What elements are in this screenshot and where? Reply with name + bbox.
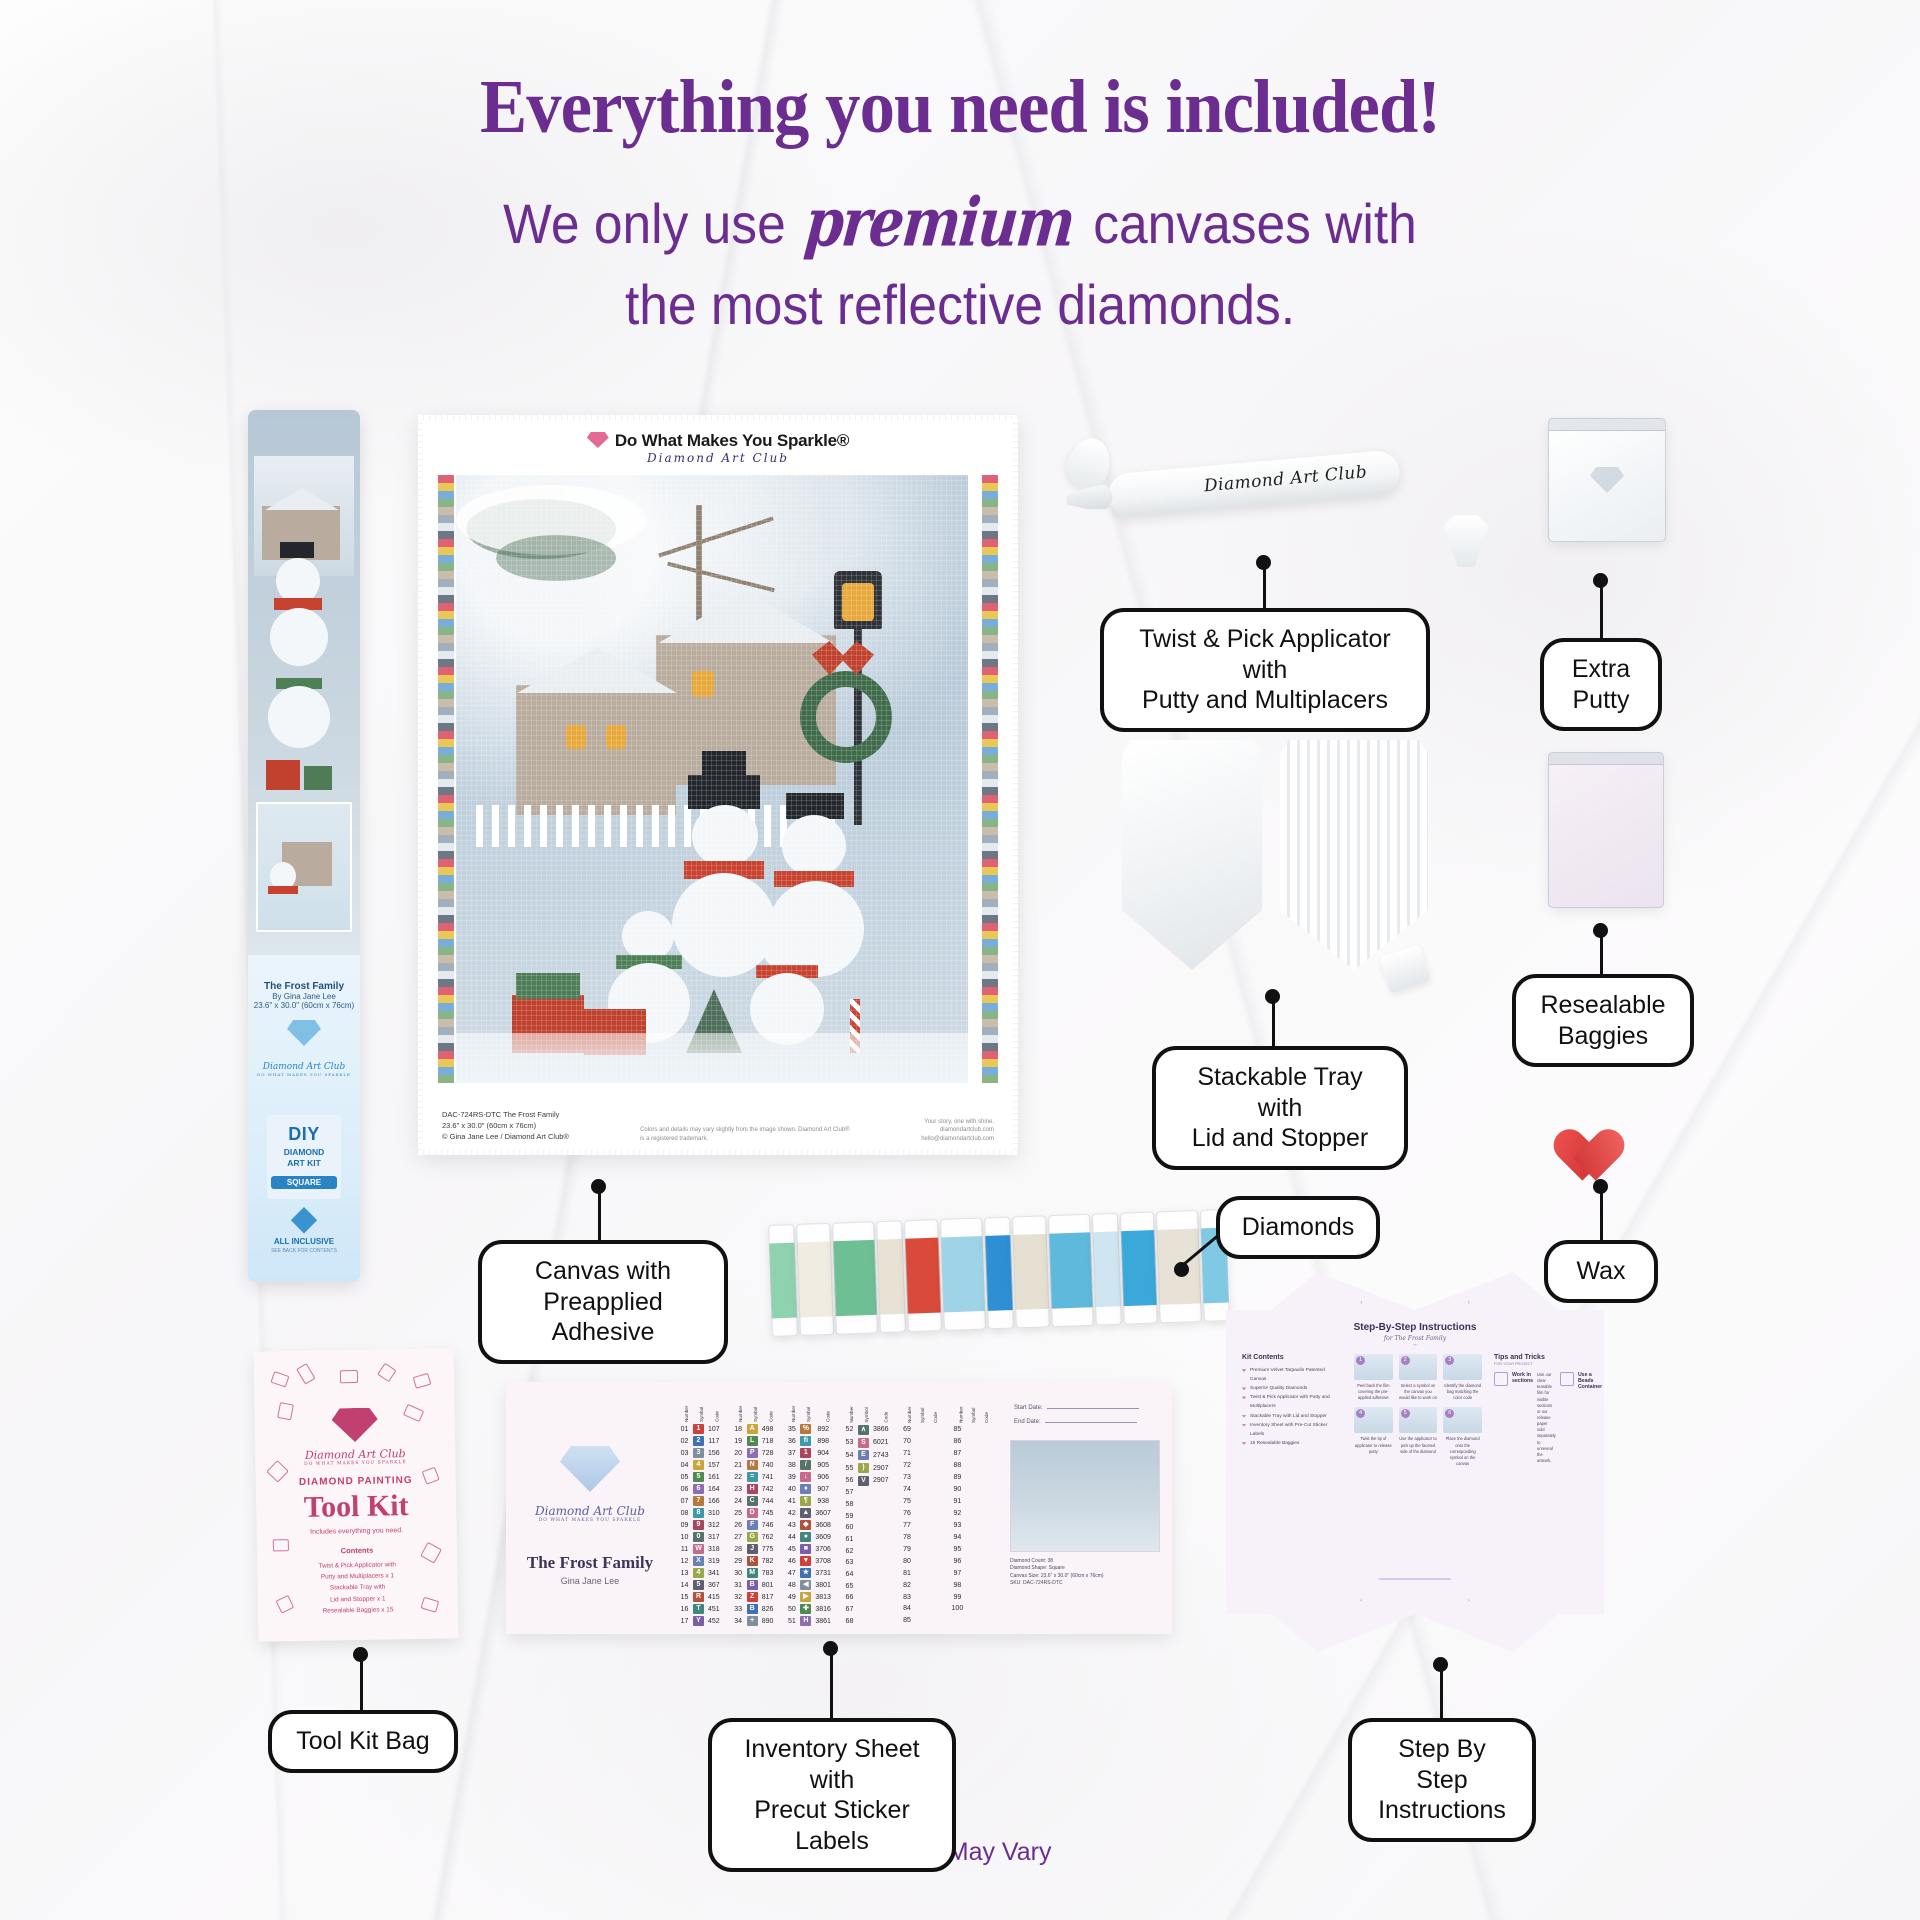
inventory-number: 43: [785, 1519, 798, 1531]
inventory-symbol: F: [745, 1519, 760, 1531]
inventory-number: 86: [950, 1436, 966, 1448]
inventory-symbol: [965, 1472, 978, 1484]
inventory-symbol: [914, 1591, 927, 1603]
inventory-symbol: ◀: [798, 1579, 813, 1591]
kit-contents-header: Kit Contents: [1242, 1354, 1342, 1361]
leader-wax: [1600, 1186, 1603, 1242]
inventory-code: [978, 1543, 991, 1555]
inventory-code: [927, 1591, 940, 1603]
inventory-column-header: Code: [706, 1412, 722, 1423]
inventory-symbol: =: [745, 1471, 760, 1483]
inventory-code: 898: [813, 1435, 833, 1447]
leader-instructions: [1440, 1664, 1443, 1720]
inventory-symbol: 6: [691, 1483, 706, 1495]
inventory-symbol: [914, 1496, 927, 1508]
inventory-symbol: G: [745, 1531, 760, 1543]
inventory-symbol: [856, 1580, 871, 1592]
start-date-field[interactable]: [1047, 1408, 1139, 1409]
inventory-code: [871, 1545, 891, 1557]
inventory-code: 3813: [813, 1591, 833, 1603]
inventory-symbol-swatch: X: [693, 1556, 704, 1566]
inventory-column-header: Symbol: [965, 1412, 978, 1424]
inventory-code: 157: [706, 1459, 722, 1471]
pen-brand-script: Diamond Art Club: [1203, 462, 1368, 496]
diamond-packet: [1048, 1214, 1094, 1327]
inventory-symbol: ▲: [798, 1507, 813, 1519]
inventory-symbol: [856, 1545, 871, 1557]
inventory-sheet: Diamond Art Club DO WHAT MAKES YOU SPARK…: [506, 1382, 1172, 1634]
inventory-symbol-swatch: 1: [800, 1448, 811, 1458]
inventory-symbol: N: [745, 1459, 760, 1471]
table-row: 099312: [678, 1519, 722, 1531]
inventory-code: [927, 1484, 940, 1496]
inventory-symbol-swatch: H: [747, 1484, 758, 1494]
inventory-code: 3801: [813, 1579, 833, 1591]
inventory-symbol: /: [798, 1459, 813, 1471]
inventory-code: [871, 1510, 891, 1522]
inventory-code: [871, 1557, 891, 1569]
instruction-step: 1Peel back the film covering the pre-app…: [1354, 1354, 1393, 1401]
diamond-packet: [876, 1220, 906, 1333]
table-row: 29K782: [732, 1555, 776, 1567]
inventory-symbol: K: [745, 1555, 760, 1567]
diamond-packet: [1120, 1212, 1158, 1325]
inventory-code: 415: [706, 1591, 722, 1603]
inventory-symbol: W: [691, 1543, 706, 1555]
inventory-code: 3731: [813, 1567, 833, 1579]
inventory-symbol-swatch: W: [693, 1544, 704, 1554]
kit-contents-column: Kit Contents Premium Velvet Tarpaulin Pa…: [1242, 1354, 1342, 1448]
subtitle-line-1: We only use premium canvases with: [77, 188, 1843, 258]
inventory-symbol-swatch: ■: [800, 1544, 811, 1554]
inventory-number: 25: [732, 1507, 745, 1519]
inventory-number: 47: [785, 1567, 798, 1579]
inventory-title: The Frost Family: [506, 1553, 674, 1573]
inventory-symbol: Z: [745, 1591, 760, 1603]
inventory-code: 3861: [813, 1615, 833, 1627]
inventory-code: 312: [706, 1519, 722, 1531]
inventory-symbol: A: [745, 1423, 760, 1435]
tube-title: The Frost Family: [248, 981, 360, 992]
inventory-symbol: V: [856, 1474, 871, 1487]
step-number: 6: [1445, 1409, 1454, 1418]
inventory-symbol: [914, 1531, 927, 1543]
inventory-symbol: ★: [798, 1567, 813, 1579]
kit-contents-item: Stackable Tray with Lid and Stopper: [1242, 1412, 1342, 1421]
tip-icon: [1630, 1372, 1644, 1386]
inventory-number: 38: [785, 1459, 798, 1471]
inventory-number: 74: [901, 1484, 914, 1496]
inventory-symbol: [914, 1615, 927, 1627]
inventory-code: 892: [813, 1423, 833, 1435]
canvas-poster: Do What Makes You Sparkle® Diamond Art C…: [418, 415, 1018, 1155]
inventory-code: 3866: [871, 1424, 891, 1437]
inventory-code: 3608: [813, 1519, 833, 1531]
table-row: 70: [901, 1436, 940, 1448]
end-date-field[interactable]: [1045, 1422, 1137, 1423]
table-row: 68: [843, 1615, 891, 1627]
inventory-symbol: S: [856, 1436, 871, 1449]
table-row: 46▼3708: [785, 1555, 833, 1567]
inventory-symbol: [965, 1531, 978, 1543]
inventory-symbol: [856, 1569, 871, 1581]
inventory-code: [871, 1592, 891, 1604]
inventory-symbol-swatch: M: [747, 1568, 758, 1578]
inventory-number: 58: [843, 1499, 856, 1511]
table-row: 87: [950, 1448, 992, 1460]
inventory-code: [871, 1522, 891, 1534]
step-illustration: 6: [1443, 1407, 1482, 1433]
table-row: 79: [901, 1543, 940, 1555]
step-illustration: 2: [1399, 1354, 1438, 1380]
inventory-number: 10: [678, 1531, 691, 1543]
inventory-symbol: [965, 1436, 978, 1448]
inventory-number: 96: [950, 1555, 966, 1567]
inventory-number: 55: [843, 1462, 856, 1475]
table-row: 64: [843, 1569, 891, 1581]
inventory-number: 20: [732, 1447, 745, 1459]
inventory-code: 826: [760, 1603, 776, 1615]
inventory-symbol: [856, 1510, 871, 1522]
inventory-number: 78: [901, 1531, 914, 1543]
table-row: 62: [843, 1545, 891, 1557]
tip-item: Use a Beads ContainerPerfect for keeping…: [1560, 1372, 1626, 1471]
inventory-number: 07: [678, 1495, 691, 1507]
toolbag-contents-header: Contents: [257, 1544, 457, 1556]
instruction-step: 3Identify the diamond bag matching the c…: [1443, 1354, 1482, 1401]
poster-sku-line-2: 23.6" x 30.0" (60cm x 76cm): [442, 1121, 569, 1132]
step-text: Twist the tip of applicator to release p…: [1354, 1436, 1393, 1454]
leader-dot-toolkit: [353, 1647, 368, 1662]
inventory-code: [978, 1424, 991, 1436]
inventory-code: [871, 1534, 891, 1546]
callout-canvas: Canvas with Preapplied Adhesive: [478, 1240, 728, 1364]
inventory-code: 156: [706, 1447, 722, 1459]
inventory-symbol: B: [745, 1579, 760, 1591]
inventory-symbol-swatch: A: [747, 1424, 758, 1434]
inventory-code: 801: [760, 1579, 776, 1591]
table-row: 74: [901, 1484, 940, 1496]
inventory-symbol-swatch: K: [747, 1556, 758, 1566]
callout-stackable-tray: Stackable Tray with Lid and Stopper: [1152, 1046, 1408, 1170]
inventory-code: [927, 1436, 940, 1448]
inventory-symbol-swatch: %: [800, 1424, 811, 1434]
inventory-number: 79: [901, 1543, 914, 1555]
table-row: 11W318: [678, 1543, 722, 1555]
table-row: 12X319: [678, 1555, 722, 1567]
inventory-symbol: ∧: [856, 1424, 871, 1437]
instruction-step: 6Place the diamond onto the correspondin…: [1443, 1407, 1482, 1467]
inventory-code: [927, 1531, 940, 1543]
inventory-symbol: 2: [691, 1435, 706, 1447]
inventory-symbol-swatch: C: [747, 1496, 758, 1506]
table-row: 55)2907: [843, 1462, 891, 1475]
inventory-number: 17: [678, 1615, 691, 1627]
diamond-icon: [560, 1446, 620, 1492]
inventory-code: [927, 1543, 940, 1555]
table-row: 134341: [678, 1567, 722, 1579]
tip-title: Work in sections: [1512, 1372, 1533, 1464]
inventory-number: 21: [732, 1459, 745, 1471]
diamond-icon: [287, 1020, 321, 1046]
inventory-symbol: [965, 1424, 978, 1436]
inventory-symbol: [914, 1579, 927, 1591]
inventory-symbol: [856, 1604, 871, 1616]
inventory-number: 85: [901, 1615, 914, 1627]
table-row: 90: [950, 1484, 992, 1496]
inventory-symbol: [914, 1484, 927, 1496]
tool-kit-bag: Diamond Art Club DO WHAT MAKES YOU SPARK…: [253, 1348, 458, 1641]
inventory-code: [871, 1615, 891, 1627]
inventory-symbol: ↓: [798, 1471, 813, 1483]
inventory-code: 775: [760, 1543, 776, 1555]
table-row: 34+890: [732, 1615, 776, 1627]
inventory-code: 452: [706, 1615, 722, 1627]
inventory-number: 35: [785, 1423, 798, 1435]
inventory-symbol-swatch: +: [747, 1616, 758, 1626]
toolbag-includes: Includes everything you need.: [257, 1526, 457, 1536]
table-row: 100317: [678, 1531, 722, 1543]
kit-contents-item: 15 Resealable Baggies: [1242, 1439, 1342, 1448]
inventory-code: [978, 1460, 991, 1472]
leader-dot-extra-putty: [1593, 573, 1608, 588]
inventory-number: 39: [785, 1471, 798, 1483]
inventory-symbol: ✚: [798, 1603, 813, 1615]
inventory-number: 28: [732, 1543, 745, 1555]
inventory-number: 88: [950, 1460, 966, 1472]
inventory-symbol: ▶: [798, 1591, 813, 1603]
inventory-number: 13: [678, 1567, 691, 1579]
inventory-code: 317: [706, 1531, 722, 1543]
inventory-code: 904: [813, 1447, 833, 1459]
inventory-code: 2907: [871, 1474, 891, 1487]
table-row: 15R415: [678, 1591, 722, 1603]
table-row: 033156: [678, 1447, 722, 1459]
table-row: 36fi898: [785, 1435, 833, 1447]
inventory-code: 782: [760, 1555, 776, 1567]
inventory-symbol-swatch: fi: [800, 1436, 811, 1446]
inventory-symbol-swatch: E: [858, 1450, 869, 1460]
inventory-symbol-swatch: ▶: [800, 1592, 811, 1602]
inventory-number: 60: [843, 1522, 856, 1534]
tube-drill-type: SQUARE: [271, 1176, 337, 1189]
inventory-number: 08: [678, 1507, 691, 1519]
table-row: 98: [950, 1579, 992, 1591]
step-by-step-instruction-sheet: Step-By-Step Instructions for The Frost …: [1226, 1272, 1604, 1652]
inventory-code: [927, 1508, 940, 1520]
inventory-symbol: M: [745, 1567, 760, 1579]
diamond-packet: [940, 1218, 986, 1331]
inventory-code: 3609: [813, 1531, 833, 1543]
inventory-code: 746: [760, 1519, 776, 1531]
inventory-code: [871, 1569, 891, 1581]
inventory-code: [927, 1567, 940, 1579]
table-row: 022117: [678, 1435, 722, 1447]
inventory-symbol-swatch: 4: [693, 1568, 704, 1578]
inventory-column-header: Number: [678, 1412, 691, 1423]
inventory-code: 319: [706, 1555, 722, 1567]
inventory-code: 6021: [871, 1436, 891, 1449]
inventory-code: [927, 1555, 940, 1567]
inventory-symbol: 4: [691, 1459, 706, 1471]
callout-resealable-baggies: Resealable Baggies: [1512, 974, 1694, 1067]
table-row: 49▶3813: [785, 1591, 833, 1603]
inventory-code: 938: [813, 1495, 833, 1507]
inventory-symbol-swatch: Z: [747, 1592, 758, 1602]
tube-label: The Frost Family By Gina Jane Lee 23.6" …: [248, 955, 360, 1282]
diamond-packet: [984, 1217, 1014, 1330]
inventory-code: [927, 1448, 940, 1460]
inventory-number: 45: [785, 1543, 798, 1555]
inventory-number: 44: [785, 1531, 798, 1543]
inventory-number: 16: [678, 1603, 691, 1615]
table-row: 80: [901, 1555, 940, 1567]
inventory-symbol: [856, 1557, 871, 1569]
inventory-number: 69: [901, 1424, 914, 1436]
inventory-number: 95: [950, 1543, 966, 1555]
inventory-number: 42: [785, 1507, 798, 1519]
color-legend-left: [438, 475, 454, 1083]
inventory-code: 3706: [813, 1543, 833, 1555]
table-row: 100: [950, 1603, 992, 1615]
table-row: 63: [843, 1557, 891, 1569]
table-row: 86: [950, 1436, 992, 1448]
stackable-tray-base: [1280, 740, 1428, 970]
inventory-column-header: Number: [901, 1412, 914, 1424]
inventory-code: [978, 1436, 991, 1448]
tip-icon: [1696, 1372, 1710, 1386]
inventory-code: [978, 1508, 991, 1520]
inventory-symbol: [965, 1460, 978, 1472]
table-row: 57: [843, 1487, 891, 1499]
inventory-symbol-swatch: =: [747, 1472, 758, 1482]
table-row: 69: [901, 1424, 940, 1436]
diamond-square-icon: [289, 1205, 319, 1235]
inventory-number: 29: [732, 1555, 745, 1567]
inventory-number: 59: [843, 1510, 856, 1522]
inventory-code: 744: [760, 1495, 776, 1507]
inventory-code: 741: [760, 1471, 776, 1483]
inventory-column-header: Number: [843, 1412, 856, 1424]
inventory-artwork-thumbnail: [1010, 1440, 1160, 1552]
diamond-icon: [331, 1408, 378, 1443]
inventory-number: 31: [732, 1579, 745, 1591]
inventory-number: 22: [732, 1471, 745, 1483]
table-row: 51H3861: [785, 1615, 833, 1627]
inventory-thumb-caption: Diamond Count: 38 Diamond Shape: Square …: [1010, 1558, 1160, 1588]
inventory-number: 11: [678, 1543, 691, 1555]
inventory-symbol: ♦: [798, 1483, 813, 1495]
table-row: 67: [843, 1604, 891, 1616]
inventory-symbol: [856, 1615, 871, 1627]
table-row: 47★3731: [785, 1567, 833, 1579]
table-row: 066164: [678, 1483, 722, 1495]
baggie-seal: [1549, 419, 1665, 431]
diamond-packet: [1092, 1213, 1122, 1326]
inventory-symbol: 8: [691, 1507, 706, 1519]
leader-extra-putty: [1600, 580, 1603, 640]
inventory-code: [927, 1496, 940, 1508]
inventory-code: 728: [760, 1447, 776, 1459]
inventory-code: [871, 1499, 891, 1511]
canvas-artwork: [456, 475, 968, 1083]
tip-text: Use our clear tearable film for visible …: [1537, 1372, 1556, 1464]
step-illustration: 1: [1354, 1354, 1393, 1380]
inventory-code: 742: [760, 1483, 776, 1495]
toolbag-contents-item: Resealable Baggies x 15: [272, 1603, 444, 1617]
inventory-code: 3607: [813, 1507, 833, 1519]
inventory-symbol: 1: [798, 1447, 813, 1459]
inventory-number: 66: [843, 1592, 856, 1604]
inventory-brand-small: DO WHAT MAKES YOU SPARKLE: [506, 1518, 674, 1523]
inventory-symbol: 7: [691, 1495, 706, 1507]
table-row: 145367: [678, 1579, 722, 1591]
step-number: 3: [1445, 1356, 1454, 1365]
inventory-code: [978, 1603, 991, 1615]
table-row: 61: [843, 1534, 891, 1546]
table-row: 97: [950, 1567, 992, 1579]
inventory-symbol: 5: [691, 1579, 706, 1591]
inventory-symbol: [914, 1567, 927, 1579]
table-row: 44●3609: [785, 1531, 833, 1543]
inventory-symbol: [965, 1496, 978, 1508]
inventory-number: 36: [785, 1435, 798, 1447]
diamond-packets: [768, 1211, 1172, 1337]
inventory-symbol: 0: [691, 1531, 706, 1543]
inventory-symbol: ¶: [798, 1495, 813, 1507]
inventory-column-header: Symbol: [691, 1412, 706, 1423]
table-row: 044157: [678, 1459, 722, 1471]
inventory-symbol: ■: [798, 1543, 813, 1555]
poster-sku-block: DAC-724RS-DTC The Frost Family 23.6" x 3…: [442, 1110, 569, 1143]
inventory-symbol: [914, 1460, 927, 1472]
tube-diy-label: DIY: [271, 1125, 337, 1143]
table-row: 95: [950, 1543, 992, 1555]
table-row: 45■3706: [785, 1543, 833, 1555]
inventory-code: [871, 1604, 891, 1616]
inventory-number: 23: [732, 1483, 745, 1495]
step-number: 5: [1401, 1409, 1410, 1418]
table-row: 58: [843, 1499, 891, 1511]
tip-icon: [1560, 1372, 1574, 1386]
inventory-number: 32: [732, 1591, 745, 1603]
tube-brand-small: DO WHAT MAKES YOU SPARKLE: [248, 1072, 360, 1077]
inventory-symbol: [856, 1534, 871, 1546]
callout-extra-putty: Extra Putty: [1540, 638, 1662, 731]
inventory-code: [978, 1496, 991, 1508]
table-row: 75: [901, 1496, 940, 1508]
inventory-number: 93: [950, 1519, 966, 1531]
poster-header: Do What Makes You Sparkle® Diamond Art C…: [418, 431, 1018, 465]
inventory-number: 63: [843, 1557, 856, 1569]
table-row: 20P728: [732, 1447, 776, 1459]
inventory-number: 80: [901, 1555, 914, 1567]
inventory-symbol: ●: [798, 1531, 813, 1543]
inventory-code: [927, 1615, 940, 1627]
step-text: Select a symbol on the canvas you would …: [1399, 1383, 1438, 1401]
inventory-code: [978, 1579, 991, 1591]
table-row: 85: [950, 1424, 992, 1436]
end-date-label: End Date:: [1014, 1416, 1041, 1430]
inventory-code: 164: [706, 1483, 722, 1495]
inventory-number: 14: [678, 1579, 691, 1591]
inventory-symbol-swatch: L: [747, 1436, 758, 1446]
inventory-symbol: J: [745, 1543, 760, 1555]
inventory-code: 310: [706, 1507, 722, 1519]
inventory-column-table: NumberSymbolCode35%89236fi89837190438/90…: [785, 1412, 833, 1627]
table-row: 77: [901, 1519, 940, 1531]
table-row: 48◀3801: [785, 1579, 833, 1591]
